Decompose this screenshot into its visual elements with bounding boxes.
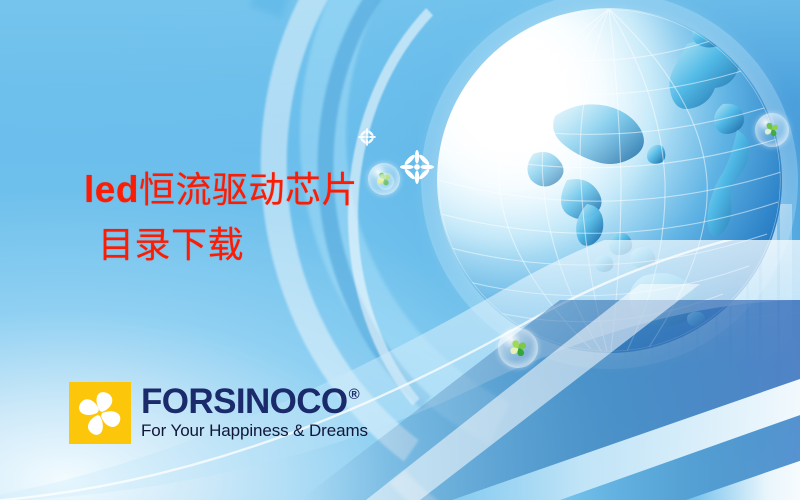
pinwheel-petals-icon [69,382,131,444]
brand-logo-text: FORSINOCO ® For Your Happiness & Dreams [141,385,368,440]
page-title: led恒流驱动芯片 目录下载 [84,162,424,273]
diagonal-ribbon-bands [0,240,800,500]
forsinoco-pinwheel-mark [69,382,131,444]
promo-banner: led恒流驱动芯片 目录下载 FORSINOCO ® For Your Happ… [0,0,800,500]
headline-cjk: 恒流驱动芯片 [139,170,358,210]
pinwheel-icon [507,337,529,359]
brand-logo: FORSINOCO ® For Your Happiness & Dreams [69,382,368,444]
registered-trademark-symbol: ® [349,387,359,402]
headline-line-1: led恒流驱动芯片 [84,162,424,218]
headline-latin: led [84,169,139,210]
bubble-with-pinwheel-medium [498,328,538,368]
brand-name-text: FORSINOCO [141,385,348,419]
brand-name: FORSINOCO ® [141,385,368,419]
pinwheel-icon [762,120,781,139]
white-flower-sparkle-small [358,128,376,146]
brand-tagline: For Your Happiness & Dreams [141,422,368,441]
bubble-with-pinwheel-edge [755,113,789,147]
headline-line-2: 目录下载 [84,218,424,273]
